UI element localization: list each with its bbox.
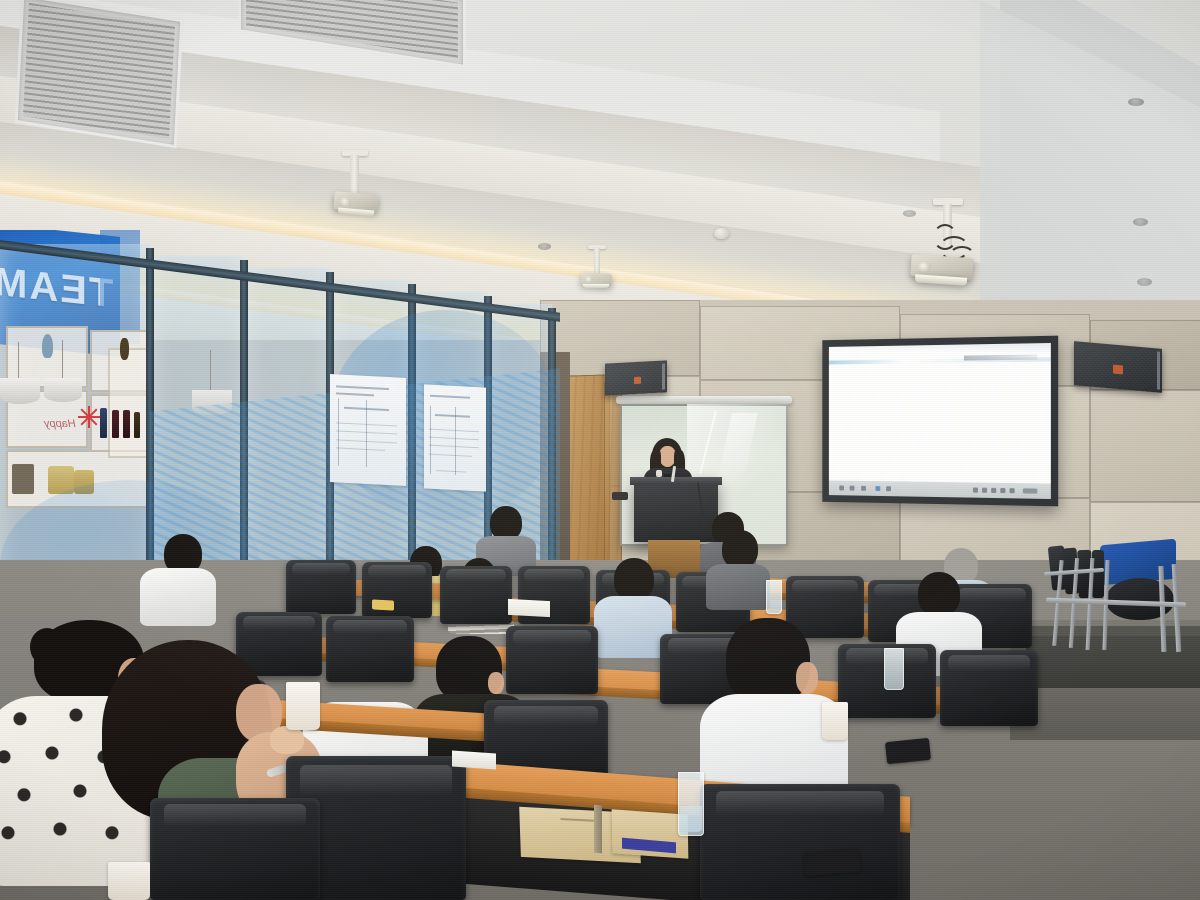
projector-right: [905, 198, 985, 296]
chair-r4-1[interactable]: [286, 560, 356, 614]
main-projection-screen[interactable]: [822, 336, 1058, 507]
shelf-ornament: [120, 338, 129, 360]
attendee-dark-top-mid: [706, 530, 772, 600]
recessed-downlight-d: [1133, 218, 1148, 226]
water-glass-2[interactable]: [766, 580, 782, 614]
notice-poster-left: [330, 374, 406, 486]
window-script-text: Happy: [44, 418, 76, 430]
water-glass[interactable]: [678, 772, 704, 836]
chair-r4-2[interactable]: [362, 562, 432, 618]
smoke-detector: [714, 228, 729, 239]
wine-bottle-3: [123, 410, 130, 438]
sticky-note: [372, 599, 394, 610]
recessed-downlight-e: [1137, 278, 1152, 286]
notice-poster-right: [424, 384, 486, 491]
recessed-downlight-c: [1128, 98, 1144, 106]
wall-speaker-right: [1074, 341, 1162, 393]
paper-sheet: [508, 599, 550, 617]
stacked-folding-chairs[interactable]: [1034, 538, 1200, 648]
shelf-decanter: [42, 334, 53, 358]
presenter-lapel-badge: [656, 470, 662, 477]
red-snowflake-ornament: [78, 406, 100, 428]
paper-cup-2[interactable]: [822, 702, 848, 740]
wall-speaker-left: [605, 360, 667, 395]
wine-bottle-2: [112, 410, 119, 438]
shelf-box-3: [12, 464, 34, 494]
chair-r1-0[interactable]: [150, 798, 320, 900]
paper-cup-3[interactable]: [108, 862, 150, 900]
chair-r4-3[interactable]: [440, 566, 512, 624]
projector-center: [578, 245, 618, 293]
projection-screen-surface: [829, 343, 1051, 499]
counter-item: [612, 492, 628, 500]
ac-vent-left: [15, 0, 184, 148]
attendee-green-hand: [270, 726, 304, 754]
wine-bottle-4: [134, 412, 140, 438]
chair-r1-2[interactable]: [700, 784, 900, 900]
podium-top-surface: [630, 477, 722, 485]
water-glass-3[interactable]: [884, 648, 904, 690]
pendant-lamp-2: [44, 378, 82, 402]
screen-roller-housing: [616, 396, 792, 404]
conference-room-photo: TEAM: [0, 0, 1200, 900]
paper-sheet-2: [452, 750, 496, 769]
chair-r3-6[interactable]: [940, 650, 1038, 726]
paper-cup[interactable]: [286, 682, 320, 730]
projector-left: [330, 150, 390, 220]
mobile-phone-2[interactable]: [803, 848, 861, 877]
wine-bottle-1: [100, 408, 107, 438]
attendee-white-shirt-left: [140, 534, 218, 622]
hair-bun: [30, 628, 64, 666]
handout-booklet-2: [612, 809, 689, 858]
pendant-lamp-1: [0, 378, 40, 404]
windows-taskbar: [829, 480, 1051, 499]
booklet-spine: [594, 805, 602, 854]
mobile-phone[interactable]: [885, 738, 931, 764]
